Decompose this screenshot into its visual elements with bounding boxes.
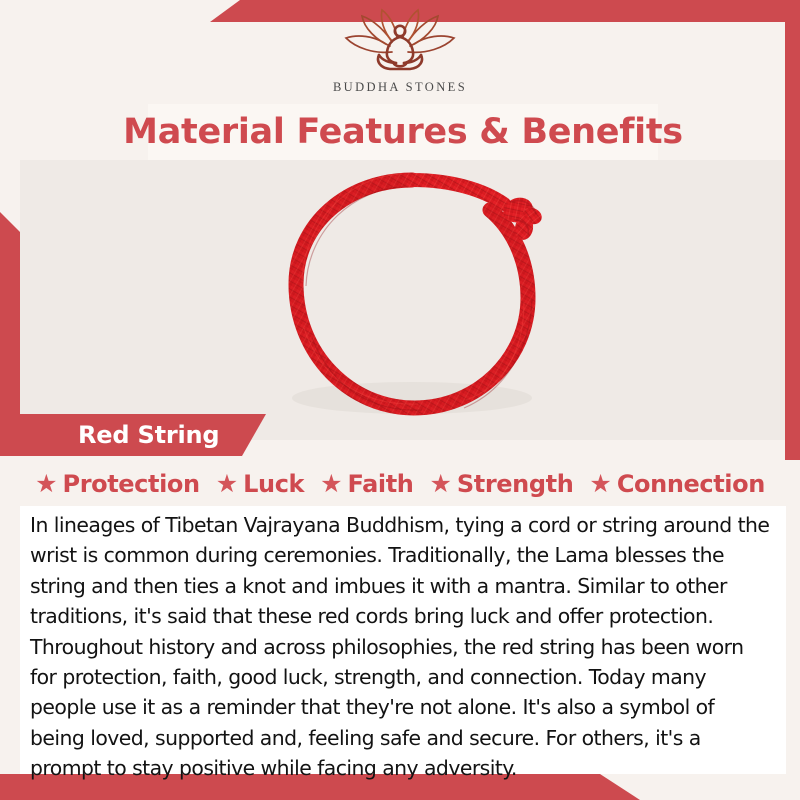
feature-label: Luck <box>243 470 304 498</box>
feature-list: ★ Protection ★ Luck ★ Faith ★ Strength ★… <box>20 464 780 504</box>
feature-label: Strength <box>457 470 574 498</box>
decor-left-bar <box>0 198 20 456</box>
feature-item-strength: ★ Strength <box>422 470 580 498</box>
star-icon: ★ <box>35 472 57 497</box>
page-title: Material Features & Benefits <box>123 112 683 152</box>
brand-header: BUDDHA STONES <box>0 0 800 104</box>
feature-item-faith: ★ Faith <box>313 470 420 498</box>
star-icon: ★ <box>429 472 451 497</box>
material-name: Red String <box>78 421 219 449</box>
feature-item-protection: ★ Protection <box>28 470 207 498</box>
feature-item-connection: ★ Connection <box>582 470 771 498</box>
star-icon: ★ <box>320 472 342 497</box>
feature-label: Faith <box>348 470 414 498</box>
brand-name: BUDDHA STONES <box>333 80 467 95</box>
lotus-meditation-figure-icon <box>334 8 466 78</box>
feature-item-luck: ★ Luck <box>209 470 311 498</box>
feature-label: Protection <box>63 470 200 498</box>
brand-logo: BUDDHA STONES <box>0 8 800 95</box>
description-panel: In lineages of Tibetan Vajrayana Buddhis… <box>20 506 786 774</box>
product-image-panel <box>20 160 785 440</box>
material-features-poster: BUDDHA STONES Material Features & Benefi… <box>0 0 800 800</box>
star-icon: ★ <box>216 472 238 497</box>
red-string-bracelet-image <box>252 160 592 440</box>
feature-label: Connection <box>617 470 765 498</box>
material-ribbon-label: Red String <box>20 414 266 456</box>
title-banner: Material Features & Benefits <box>148 104 658 160</box>
description-text: In lineages of Tibetan Vajrayana Buddhis… <box>20 510 786 784</box>
star-icon: ★ <box>589 472 611 497</box>
